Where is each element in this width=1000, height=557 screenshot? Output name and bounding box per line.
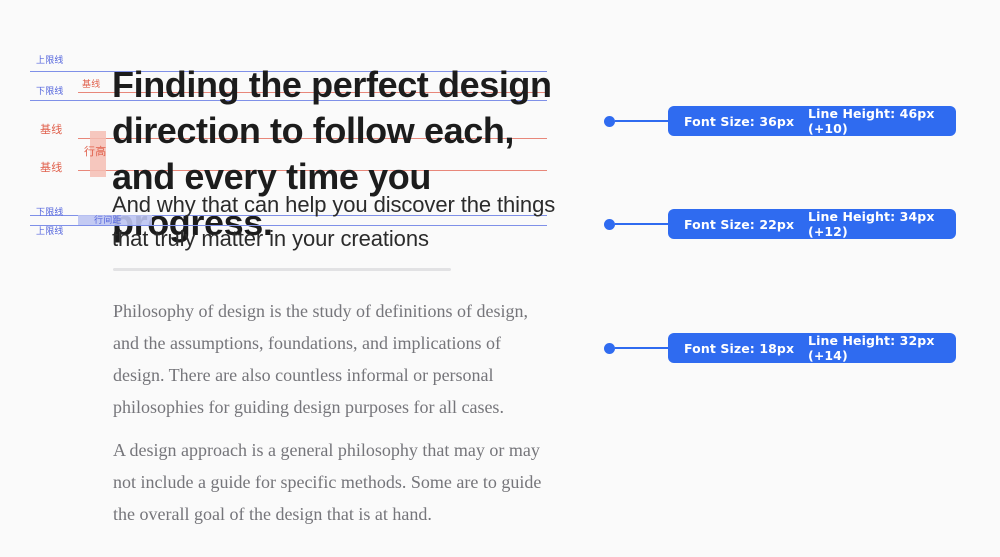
annotation-row-body: Font Size: 18px Line Height: 32px (+14) [604,333,956,363]
typography-spec-canvas: 上限线 基线 下限线 基线 基线 行高 Finding the perfect … [0,0,1000,557]
guide-label-subheading-ascender: 上限线 [36,228,64,237]
annotation-dot-icon [604,116,615,127]
page-subtitle: And why that can help you discover the t… [112,188,572,256]
guide-label-heading-ascender: 上限线 [36,57,64,66]
guide-label-heading-baseline-2: 基线 [40,124,62,135]
annotation-row-heading: Font Size: 36px Line Height: 46px (+10) [604,106,956,136]
annotation-connector-line [615,120,668,122]
annotation-font-size-label: Font Size: 18px [684,341,808,356]
guide-label-line-height: 行高 [84,146,106,157]
body-paragraph-2: A design approach is a general philosoph… [113,434,553,530]
guide-label-heading-baseline-1: 基线 [82,81,100,90]
annotation-badge-subheading[interactable]: Font Size: 22px Line Height: 34px (+12) [668,209,956,239]
annotation-connector-line [615,347,668,349]
annotation-dot-icon [604,343,615,354]
annotation-line-height-label: Line Height: 46px (+10) [808,106,940,136]
annotation-font-size-label: Font Size: 36px [684,114,808,129]
body-paragraph-1: Philosophy of design is the study of def… [113,295,553,423]
annotation-badge-heading[interactable]: Font Size: 36px Line Height: 46px (+10) [668,106,956,136]
annotation-row-subheading: Font Size: 22px Line Height: 34px (+12) [604,209,956,239]
annotation-badge-body[interactable]: Font Size: 18px Line Height: 32px (+14) [668,333,956,363]
guide-label-heading-baseline-3: 基线 [40,162,62,173]
annotation-line-height-label: Line Height: 34px (+12) [808,209,940,239]
section-divider [113,268,451,271]
annotation-dot-icon [604,219,615,230]
annotation-font-size-label: Font Size: 22px [684,217,808,232]
guide-label-subheading-descender: 下限线 [36,209,64,218]
guide-label-heading-descender: 下限线 [36,88,64,97]
annotation-line-height-label: Line Height: 32px (+14) [808,333,940,363]
annotation-connector-line [615,223,668,225]
